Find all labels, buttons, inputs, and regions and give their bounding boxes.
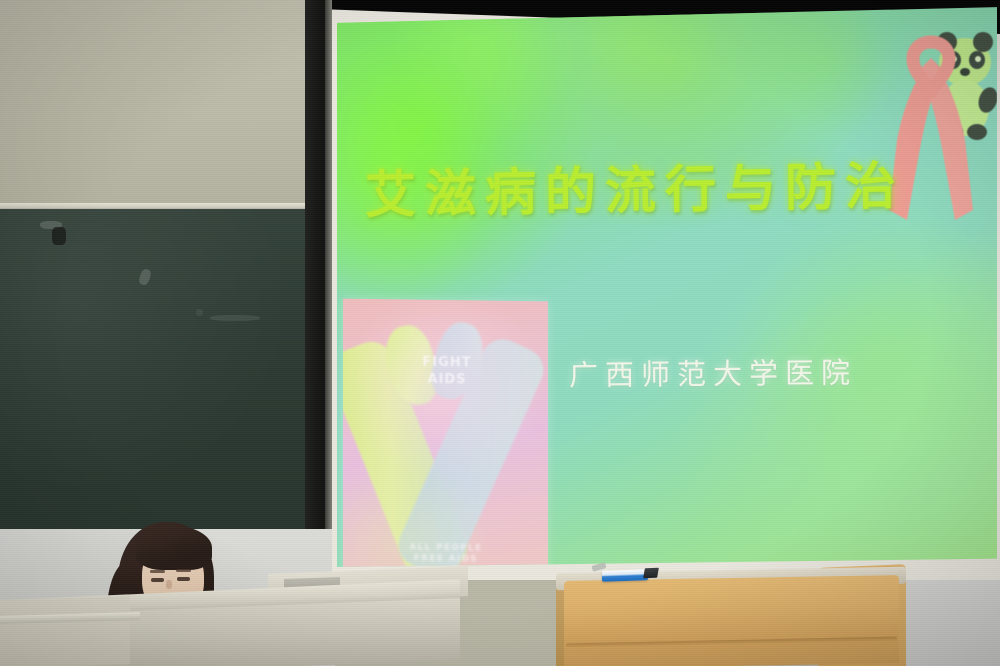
slide-title: 艾滋病的流行与防治	[365, 144, 906, 227]
left-desk-block	[0, 596, 130, 666]
right-lower-wall	[905, 575, 1000, 666]
lectern-front-panel	[564, 575, 899, 666]
upper-wall	[0, 0, 335, 208]
hair-front	[136, 526, 212, 570]
poster-haze	[343, 299, 548, 567]
poster-footer-text: ALL PEOPLEFREE AIDS	[371, 542, 521, 566]
projected-slide: 艾滋病的流行与防治 FIGHTAIDS ALL PEOPLEFREE AIDS …	[337, 6, 997, 567]
fight-aids-poster: FIGHTAIDS ALL PEOPLEFREE AIDS WORLD AIDS…	[343, 299, 548, 567]
slide-organization: 广西师范大学医院	[569, 350, 857, 395]
eye-right	[177, 577, 190, 581]
nose	[166, 580, 172, 589]
eye-left	[151, 578, 164, 582]
eyebrow-right	[176, 569, 191, 572]
eyebrow-left	[150, 570, 165, 573]
blackboard	[0, 209, 330, 529]
package-tag	[643, 568, 659, 578]
classroom-photo-scene: 艾滋病的流行与防治 FIGHTAIDS ALL PEOPLEFREE AIDS …	[0, 0, 1000, 666]
poster-headline: FIGHTAIDS	[397, 353, 497, 388]
blue-white-package	[602, 569, 648, 582]
wooden-lectern	[556, 560, 906, 666]
